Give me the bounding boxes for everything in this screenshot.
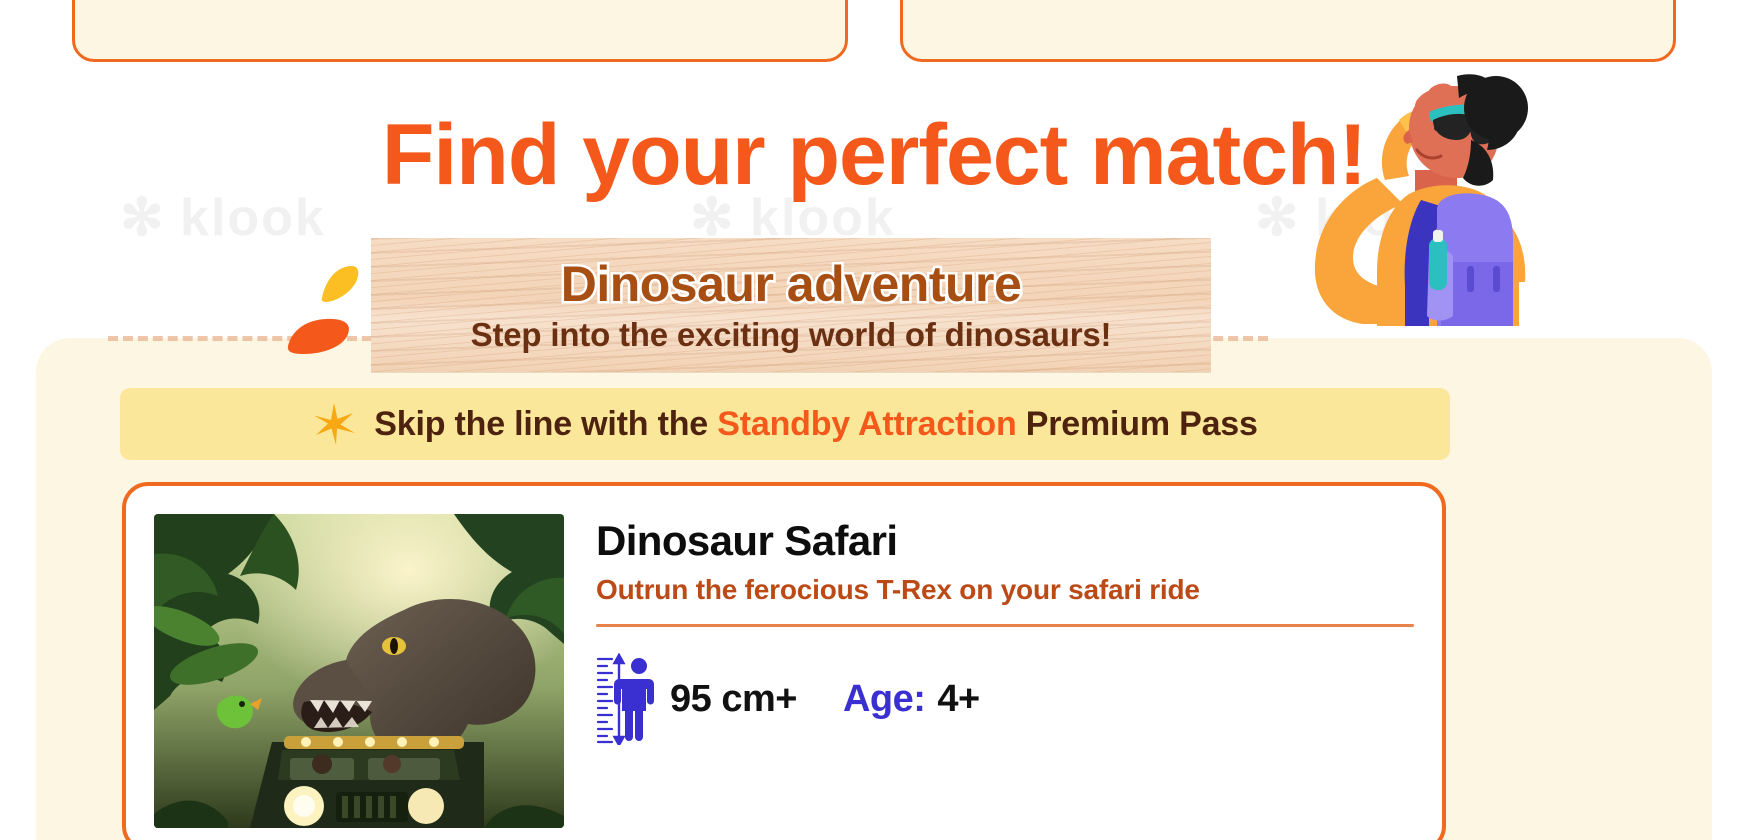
product-thumbnail[interactable] <box>154 514 564 828</box>
page-root: ✻ klook ✻ klook ✻ klook ✻ klook Find you… <box>0 0 1748 840</box>
banner-highlight: Standby Attraction <box>717 405 1016 443</box>
yellow-blob <box>318 264 360 307</box>
sign-title: Dinosaur adventure <box>561 257 1022 312</box>
sparkle-icon <box>312 402 356 446</box>
spec-age: Age: 4+ <box>843 678 980 721</box>
product-info: Dinosaur Safari Outrun the ferocious T-R… <box>596 514 1414 820</box>
height-value: 95 cm+ <box>670 678 797 721</box>
spec-height: 95 cm+ <box>596 653 797 745</box>
product-title: Dinosaur Safari <box>596 518 1414 564</box>
product-divider <box>596 624 1414 627</box>
height-ruler-person-icon <box>596 653 658 745</box>
top-cards-row <box>0 0 1748 62</box>
age-label: Age: <box>843 678 925 721</box>
sign-subtitle: Step into the exciting world of dinosaur… <box>471 316 1112 354</box>
age-value: 4+ <box>937 678 979 721</box>
top-card-left[interactable] <box>72 0 848 62</box>
banner-text: Skip the line with the Standby Attractio… <box>374 405 1257 444</box>
orange-blob <box>286 316 352 359</box>
product-specs: 95 cm+ Age: 4+ <box>596 653 1414 745</box>
banner-suffix: Premium Pass <box>1017 405 1258 443</box>
traveler-character-illustration <box>1281 66 1531 326</box>
banner-prefix: Skip the line with the <box>374 405 717 443</box>
top-card-right[interactable] <box>900 0 1676 62</box>
wooden-sign: Dinosaur adventure Step into the excitin… <box>371 238 1211 372</box>
product-subtitle: Outrun the ferocious T-Rex on your safar… <box>596 574 1414 606</box>
premium-pass-banner[interactable]: Skip the line with the Standby Attractio… <box>120 388 1450 460</box>
product-card[interactable]: Dinosaur Safari Outrun the ferocious T-R… <box>122 482 1446 840</box>
